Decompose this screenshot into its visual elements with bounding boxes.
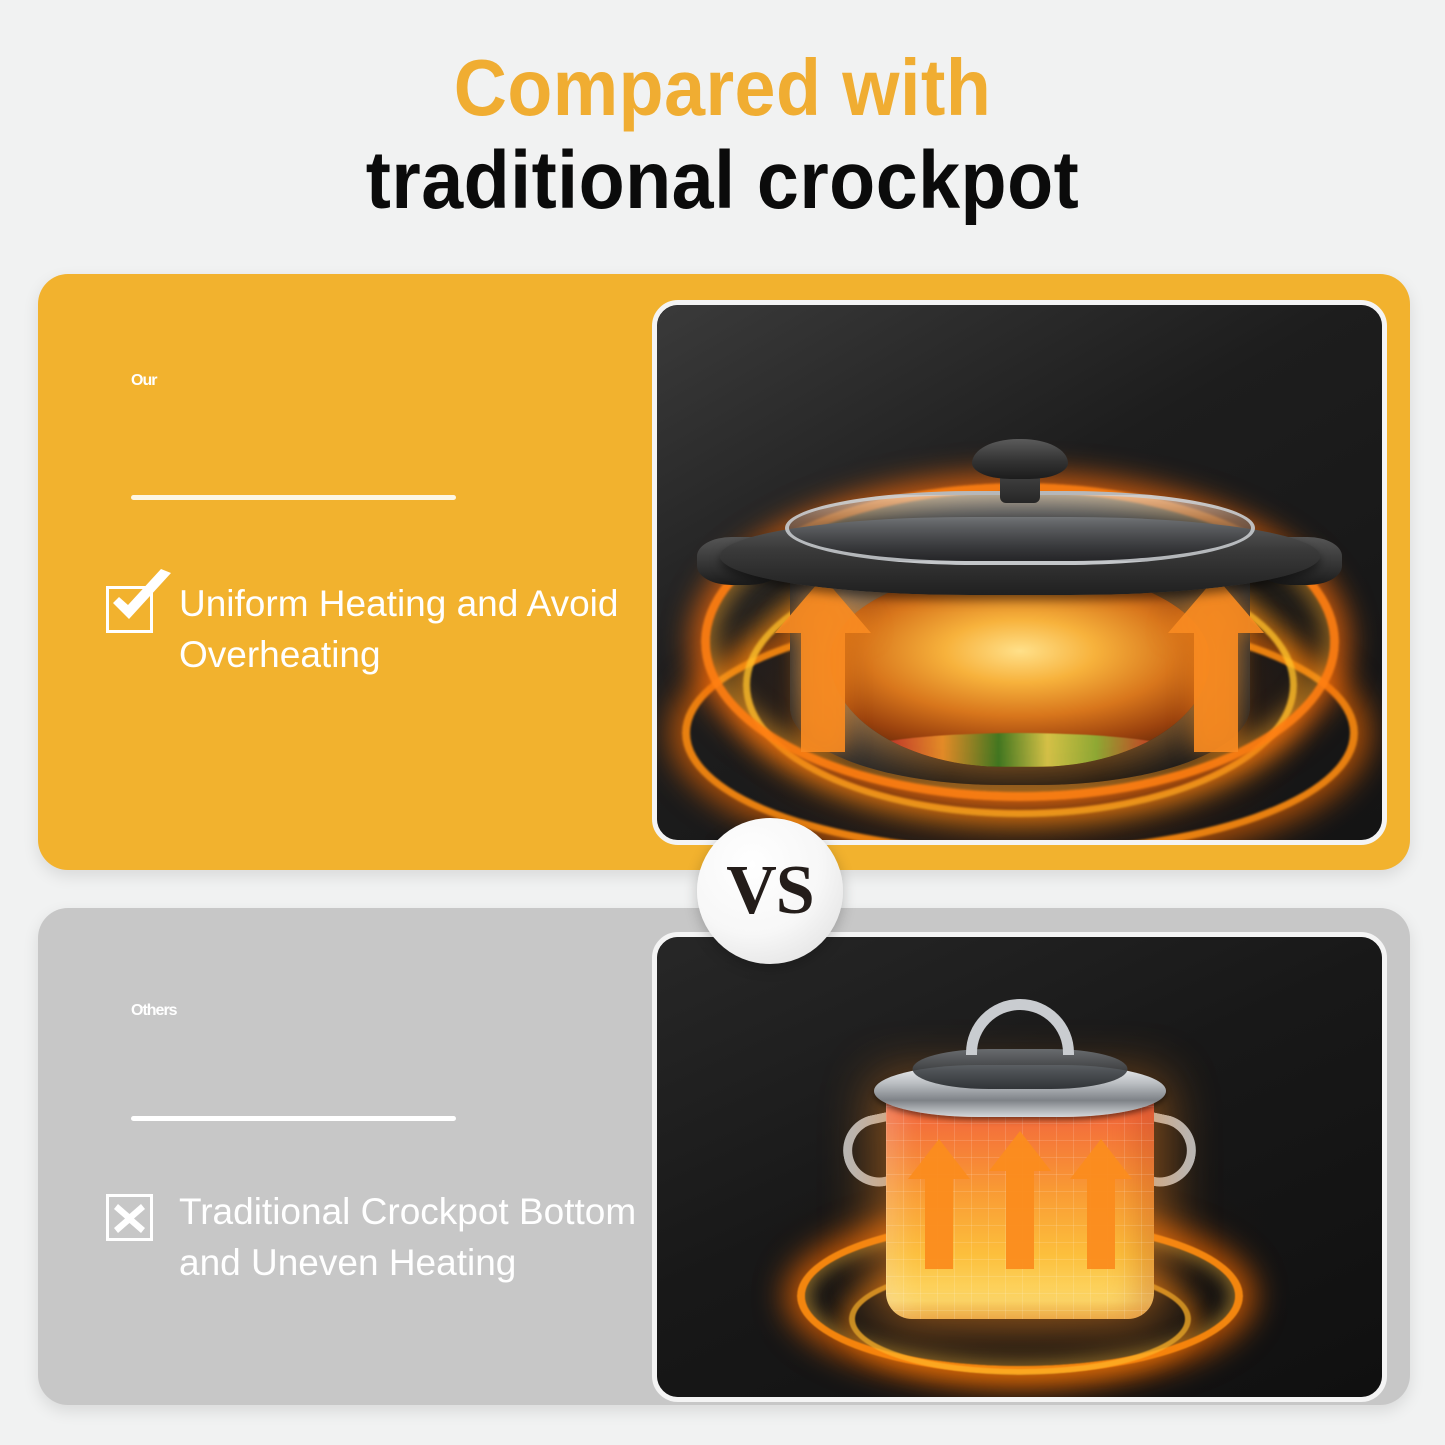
panel-heading-others: Others [131,1002,177,1020]
page-title-line-2: traditional crockpot [58,134,1387,228]
slow-cooker-uniform-heating-photo [652,300,1387,845]
roast-chicken-food [830,567,1210,767]
stockpot-lid-dome [912,1049,1127,1089]
stockpot-uneven-heating-photo [652,932,1387,1402]
heat-arrow-left-icon [775,577,871,752]
feature-text-our: Uniform Heating and Avoid Overheating [179,578,649,680]
stockpot-scene [657,937,1382,1397]
bottom-heat-arrow-right-icon [1070,1139,1132,1269]
checkbox-checked-icon [106,586,153,633]
panel-divider-others [131,1116,456,1121]
feature-text-others: Traditional Crockpot Bottom and Uneven H… [179,1186,649,1288]
page-title: Compared with traditional crockpot [0,42,1445,228]
lid-knob [972,439,1068,479]
check-mark-icon [107,569,179,633]
bottom-heat-arrow-center-icon [989,1131,1051,1269]
vs-label: VS [726,856,813,926]
heat-arrow-right-icon [1168,577,1264,752]
stockpot-body [886,1089,1154,1319]
page-title-line-1: Compared with [58,42,1387,134]
feature-row-others: Traditional Crockpot Bottom and Uneven H… [106,1186,649,1288]
feature-row-our: Uniform Heating and Avoid Overheating [106,578,649,680]
x-mark-icon [109,1197,150,1238]
bottom-heat-arrow-left-icon [908,1139,970,1269]
vs-badge: VS [697,818,843,964]
stockpot-lid-handle [966,999,1074,1055]
slow-cooker-scene [657,305,1382,840]
panel-divider-our [131,495,456,500]
panel-heading-our: Our [131,372,156,390]
checkbox-x-icon [106,1194,153,1241]
